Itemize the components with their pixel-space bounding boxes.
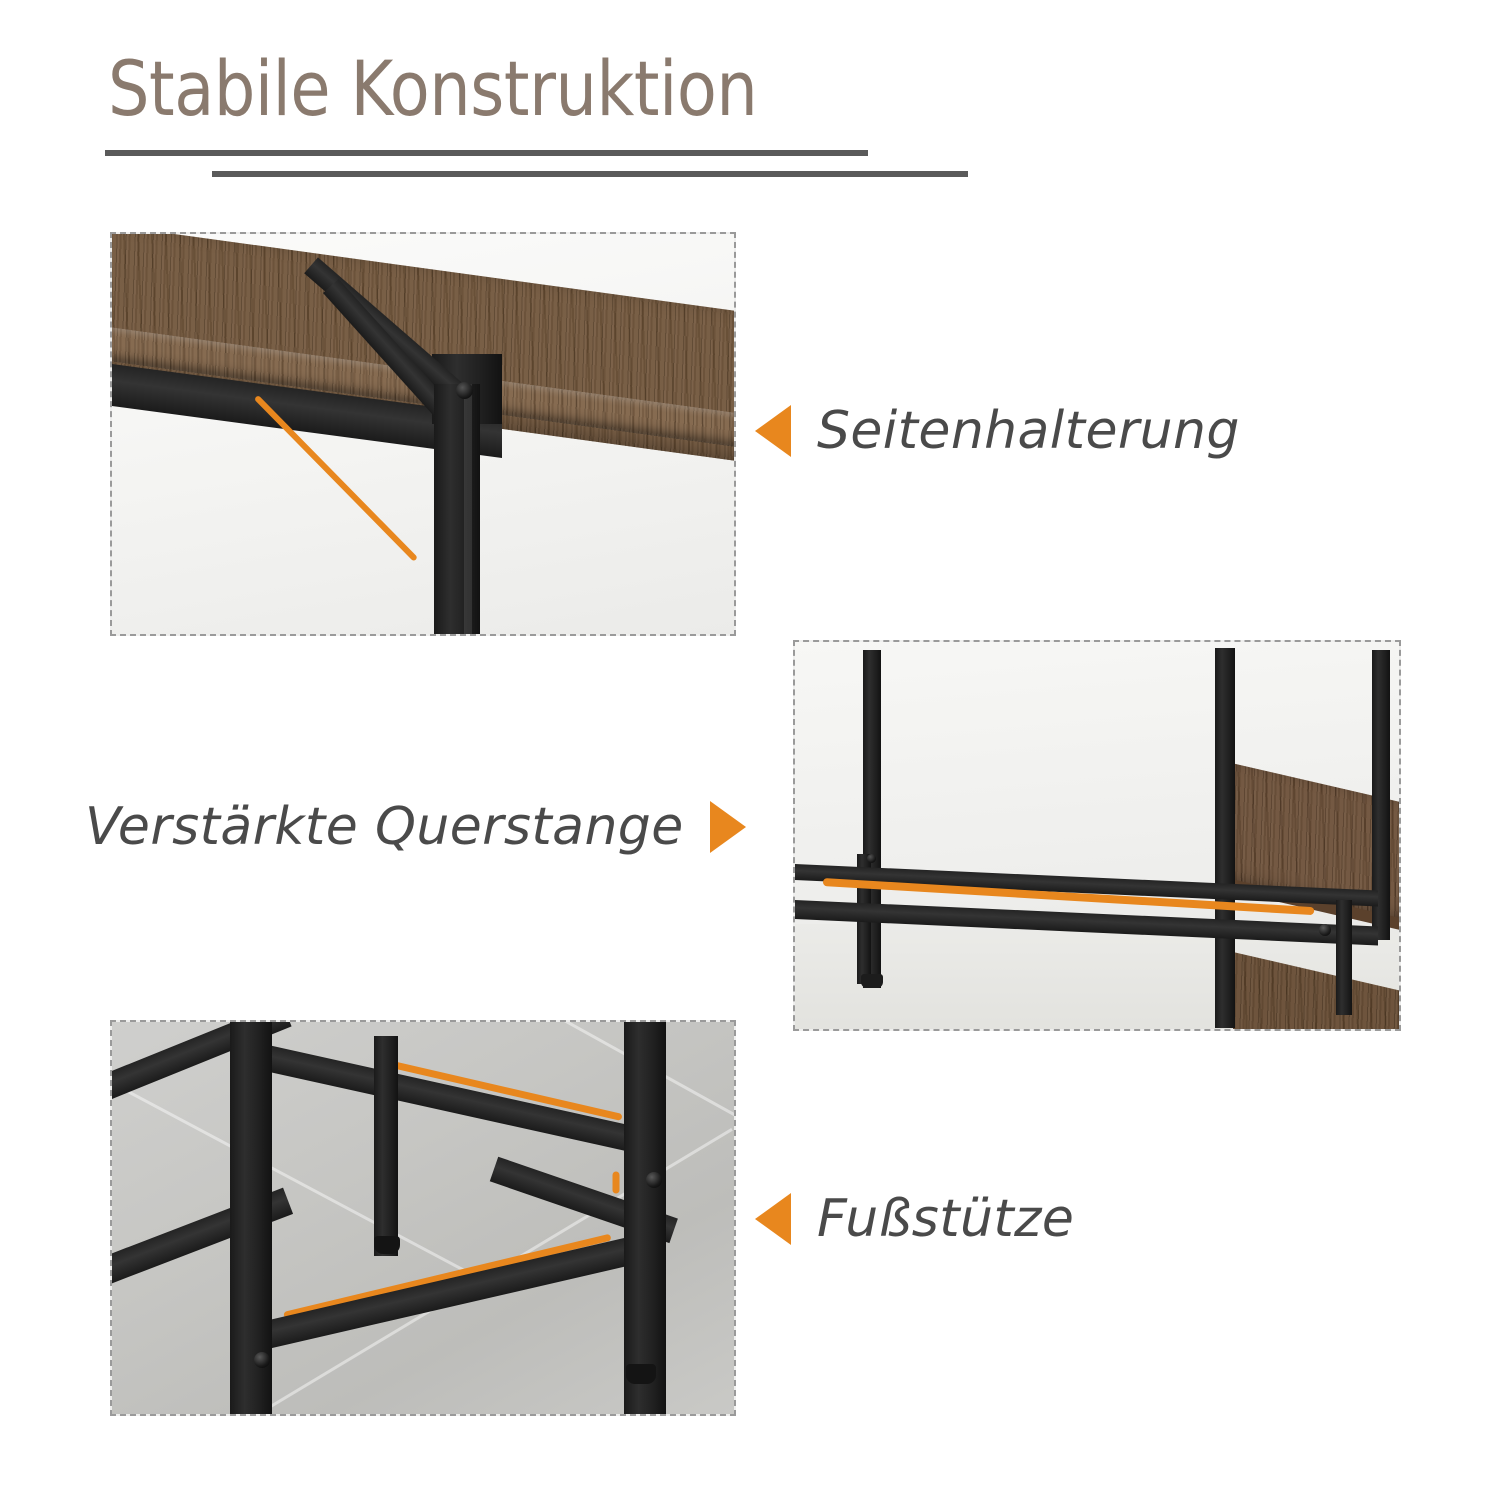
photo-footrest (112, 1022, 734, 1414)
desk-leg-highlight (464, 384, 472, 636)
footrest-leg-right (624, 1020, 666, 1416)
bolt-icon (456, 382, 473, 399)
leg-foot-cap (374, 1236, 400, 1254)
title-underline-lower (212, 171, 968, 177)
triangle-left-icon (755, 1193, 791, 1245)
leg-foot-cap (861, 974, 883, 988)
infographic-root: Stabile Konstruktion Seitenhalterung Ver… (0, 0, 1500, 1500)
triangle-left-icon (755, 405, 791, 457)
bolt-icon (646, 1172, 662, 1188)
feature-label-foot-rest: Fußstütze (755, 1188, 1074, 1250)
photo-desk-corner (112, 234, 734, 634)
leg-foot-cap (626, 1364, 656, 1384)
photo-panel-side-bracket (110, 232, 736, 636)
title-underline-upper (105, 150, 868, 156)
feature-label-side-bracket: Seitenhalterung (755, 400, 1240, 462)
bolt-icon (867, 854, 876, 863)
page-title: Stabile Konstruktion (108, 42, 757, 136)
feature-label-text: Seitenhalterung (817, 400, 1240, 462)
desk-leg (434, 384, 480, 636)
footrest-leg-middle (374, 1036, 398, 1256)
photo-panel-foot-rest (110, 1020, 736, 1416)
bolt-icon (254, 1352, 270, 1368)
feature-label-text: Verstärkte Querstange (85, 796, 684, 858)
photo-panel-cross-bar (793, 640, 1401, 1031)
feature-label-text: Fußstütze (817, 1188, 1074, 1250)
triangle-right-icon (710, 801, 746, 853)
bolt-icon (1319, 924, 1331, 936)
photo-lower-frame (795, 642, 1399, 1029)
feature-label-cross-bar: Verstärkte Querstange (85, 796, 746, 858)
frame-stile-right (1336, 900, 1352, 1015)
frame-leg-middle (1215, 648, 1235, 1028)
highlight-line-footrest-right (613, 1172, 620, 1194)
